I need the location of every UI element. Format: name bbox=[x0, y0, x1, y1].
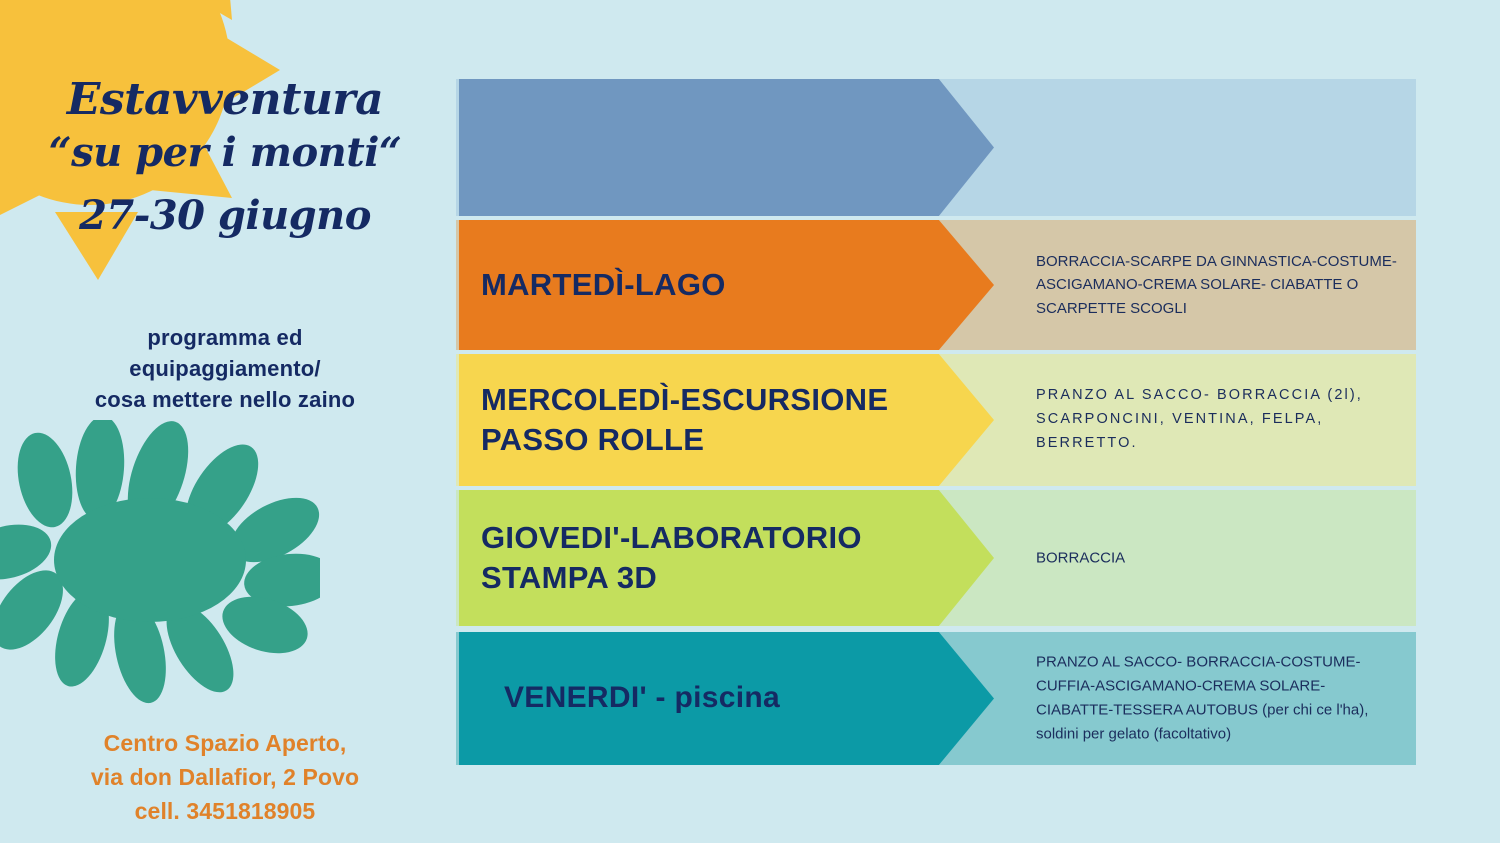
row-equipment-text: PRANZO AL SACCO- BORRACCIA-COSTUME- CUFF… bbox=[1036, 650, 1406, 747]
contact-phone: cell. 3451818905 bbox=[0, 795, 450, 829]
schedule-row-mercoledi-escursione[interactable]: MERCOLEDÌ-ESCURSIONE PASSO ROLLE PRANZO … bbox=[456, 354, 1416, 486]
schedule-row-martedi-lago[interactable]: MARTEDÌ-LAGO BORRACCIA-SCARPE DA GINNAST… bbox=[456, 220, 1416, 350]
row-label: GIOVEDI'-LABORATORIO STAMPA 3D bbox=[459, 518, 862, 597]
row-arrow: GIOVEDI'-LABORATORIO STAMPA 3D bbox=[459, 490, 994, 626]
row-arrow: MARTEDÌ-LAGO bbox=[459, 220, 994, 350]
schedule-row-header bbox=[456, 79, 1416, 216]
row-equipment-text: BORRACCIA-SCARPE DA GINNASTICA-COSTUME-A… bbox=[1036, 250, 1406, 320]
row-arrow: MERCOLEDÌ-ESCURSIONE PASSO ROLLE bbox=[459, 354, 994, 486]
schedule-row-giovedi-laboratorio[interactable]: GIOVEDI'-LABORATORIO STAMPA 3D BORRACCIA bbox=[456, 490, 1416, 626]
contact-info: Centro Spazio Aperto, via don Dallafior,… bbox=[0, 727, 450, 828]
subtitle-line-1: programma ed bbox=[0, 322, 450, 353]
left-panel: Estavventura “su per i monti“ 27-30 giug… bbox=[0, 0, 450, 843]
subtitle: programma ed equipaggiamento/ cosa mette… bbox=[0, 322, 450, 416]
row-equipment-text: BORRACCIA bbox=[1036, 546, 1406, 569]
page-title: Estavventura “su per i monti“ 27-30 giug… bbox=[0, 78, 450, 249]
title-line-1: Estavventura bbox=[0, 78, 450, 122]
title-line-2: “su per i monti“ bbox=[0, 122, 450, 184]
contact-name: Centro Spazio Aperto, bbox=[0, 727, 450, 761]
row-label: MARTEDÌ-LAGO bbox=[459, 265, 726, 305]
row-label: VENERDI' - piscina bbox=[459, 679, 780, 717]
title-dates: 27-30 giugno bbox=[0, 184, 450, 249]
row-arrow: VENERDI' - piscina bbox=[459, 632, 994, 765]
schedule-chart: MARTEDÌ-LAGO BORRACCIA-SCARPE DA GINNAST… bbox=[456, 0, 1500, 843]
row-label: MERCOLEDÌ-ESCURSIONE PASSO ROLLE bbox=[459, 380, 888, 459]
row-label-day: VENERDI' - bbox=[504, 681, 674, 714]
leaf-shape bbox=[0, 420, 320, 720]
subtitle-line-2: equipaggiamento/ bbox=[0, 353, 450, 384]
row-equipment-text: PRANZO AL SACCO- BORRACCIA (2l), SCARPON… bbox=[1036, 384, 1406, 456]
row-arrow bbox=[459, 79, 994, 216]
schedule-row-venerdi-piscina[interactable]: VENERDI' - piscina PRANZO AL SACCO- BORR… bbox=[456, 632, 1416, 765]
subtitle-line-3: cosa mettere nello zaino bbox=[0, 384, 450, 415]
row-label-activity: piscina bbox=[674, 681, 779, 714]
contact-address: via don Dallafior, 2 Povo bbox=[0, 761, 450, 795]
